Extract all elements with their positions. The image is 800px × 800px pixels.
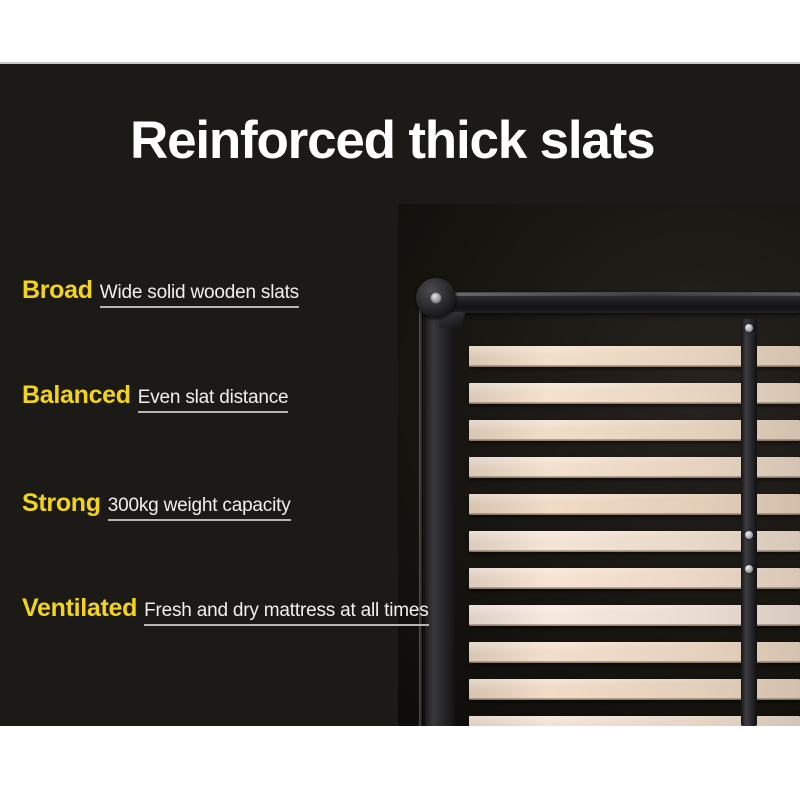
feature-underline: [100, 306, 299, 308]
top-horizontal-rail: [426, 292, 800, 313]
feature-description-wrap: Even slat distance: [138, 388, 289, 413]
feature-description: Fresh and dry mattress at all times: [144, 601, 428, 620]
dark-feature-panel: Reinforced thick slats Broad Wide solid …: [0, 64, 800, 726]
feature-description: Wide solid wooden slats: [100, 283, 299, 302]
feature-description-wrap: Fresh and dry mattress at all times: [144, 601, 428, 626]
feature-row-ventilated: Ventilated Fresh and dry mattress at all…: [22, 594, 429, 626]
feature-row-strong: Strong 300kg weight capacity: [22, 489, 291, 521]
feature-underline: [138, 411, 289, 413]
feature-row-balanced: Balanced Even slat distance: [22, 381, 288, 413]
feature-term: Strong: [22, 489, 101, 518]
feature-row-broad: Broad Wide solid wooden slats: [22, 276, 299, 308]
feature-term: Ventilated: [22, 594, 137, 623]
screw-head-icon: [745, 324, 753, 332]
bolt-head-icon: [431, 293, 442, 304]
feature-description-wrap: 300kg weight capacity: [108, 496, 291, 521]
feature-term: Balanced: [22, 381, 131, 410]
screw-head-icon: [745, 531, 753, 539]
feature-underline: [144, 624, 428, 626]
feature-term: Broad: [22, 276, 93, 305]
corner-bracket-disc: [416, 278, 456, 318]
left-post-highlight-edge: [419, 304, 422, 726]
feature-underline: [108, 519, 291, 521]
product-feature-image: Reinforced thick slats Broad Wide solid …: [0, 0, 800, 800]
center-support-post: [741, 319, 757, 726]
screw-head-icon: [745, 565, 753, 573]
left-vertical-post: [425, 304, 455, 726]
product-photo-bed-slat-base: [398, 204, 800, 726]
feature-description: 300kg weight capacity: [108, 496, 291, 515]
page-title: Reinforced thick slats: [130, 114, 770, 167]
feature-description-wrap: Wide solid wooden slats: [100, 283, 299, 308]
rail-highlight: [426, 293, 800, 296]
feature-description: Even slat distance: [138, 388, 289, 407]
